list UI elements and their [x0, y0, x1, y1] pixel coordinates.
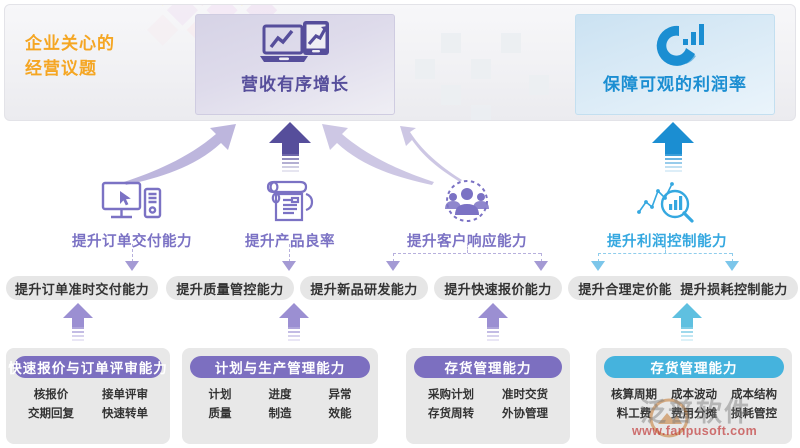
capability-customer-response[interactable]: 提升客户响应能力	[382, 178, 552, 251]
goal-card-revenue[interactable]: 营收有序增长	[195, 14, 395, 115]
panel-title-quotation-review: 快速报价与订单评审能力	[14, 356, 162, 378]
panel-items-plan-production: 计划 进度 异常 质量 制造 效能	[190, 386, 370, 424]
capability-label-product-yield: 提升产品良率	[210, 230, 370, 251]
panel-title-inventory-blue: 存货管理能力	[604, 356, 784, 378]
goal-label-profit: 保障可观的利润率	[576, 75, 774, 95]
laptop-chart-icon	[196, 17, 394, 75]
panel-title-inventory-purple: 存货管理能力	[414, 356, 562, 378]
big-arrow-up-revenue	[269, 122, 311, 174]
goal-label-revenue: 营收有序增长	[196, 75, 394, 95]
panel-item: 制造	[250, 405, 310, 424]
panel-item: 质量	[190, 405, 250, 424]
panel-item: 外协管理	[488, 405, 562, 424]
panel-item: 核报价	[14, 386, 88, 405]
up-arrow-panel-3	[478, 303, 508, 343]
pill-loss-control[interactable]: 提升损耗控制能力	[670, 276, 798, 300]
panel-plan-production[interactable]: 计划与生产管理能力 计划 进度 异常 质量 制造 效能	[182, 348, 378, 444]
up-arrow-panel-2	[279, 303, 309, 343]
panel-items-inventory-purple: 采购计划 准时交货 存货周转 外协管理	[414, 386, 562, 424]
panel-item: 进度	[250, 386, 310, 405]
pill-on-time-delivery[interactable]: 提升订单准时交付能力	[6, 276, 158, 300]
up-arrow-panel-1	[63, 303, 93, 343]
header-band: 企业关心的 经营议题	[4, 4, 796, 121]
pill-new-product-rnd[interactable]: 提升新品研发能力	[300, 276, 428, 300]
panel-item: 效能	[310, 405, 370, 424]
header-title-line1: 企业关心的	[25, 31, 115, 56]
capability-label-profit-control: 提升利润控制能力	[582, 230, 752, 251]
panel-item: 存货周转	[414, 405, 488, 424]
panel-inventory-purple[interactable]: 存货管理能力 采购计划 准时交货 存货周转 外协管理	[406, 348, 570, 444]
big-arrow-up-profit	[652, 122, 694, 174]
donut-bar-chart-icon	[576, 17, 774, 75]
panel-item: 交期回复	[14, 405, 88, 424]
decorative-squares-right	[405, 15, 585, 121]
pill-fast-quotation[interactable]: 提升快速报价能力	[434, 276, 562, 300]
goal-card-profit[interactable]: 保障可观的利润率	[575, 14, 775, 115]
capability-order-delivery[interactable]: 提升订单交付能力	[52, 178, 212, 251]
magnifier-analytics-icon	[582, 178, 752, 224]
panel-item: 准时交货	[488, 386, 562, 405]
panel-item: 采购计划	[414, 386, 488, 405]
panel-item: 异常	[310, 386, 370, 405]
panel-item: 快速转单	[88, 405, 162, 424]
panel-title-plan-production: 计划与生产管理能力	[190, 356, 370, 378]
curved-arrow-far-right	[398, 124, 468, 184]
panel-items-quotation-review: 核报价 接单评审 交期回复 快速转单	[14, 386, 162, 424]
capability-profit-control[interactable]: 提升利润控制能力	[582, 178, 752, 251]
header-title: 企业关心的 经营议题	[25, 31, 115, 81]
panel-quotation-review[interactable]: 快速报价与订单评审能力 核报价 接单评审 交期回复 快速转单	[6, 348, 170, 444]
curved-arrow-left	[120, 124, 240, 186]
panel-item: 接单评审	[88, 386, 162, 405]
blueprint-scroll-icon	[210, 178, 370, 224]
header-title-line2: 经营议题	[25, 56, 115, 81]
up-arrow-panel-4	[672, 303, 702, 343]
panel-item: 计划	[190, 386, 250, 405]
desktop-computer-icon	[52, 178, 212, 224]
capability-product-yield[interactable]: 提升产品良率	[210, 178, 370, 251]
diagram-canvas: 企业关心的 经营议题	[0, 0, 800, 448]
customer-group-icon	[382, 178, 552, 224]
watermark-url: www.fanpusoft.com	[632, 424, 757, 438]
pill-quality-control[interactable]: 提升质量管控能力	[166, 276, 294, 300]
